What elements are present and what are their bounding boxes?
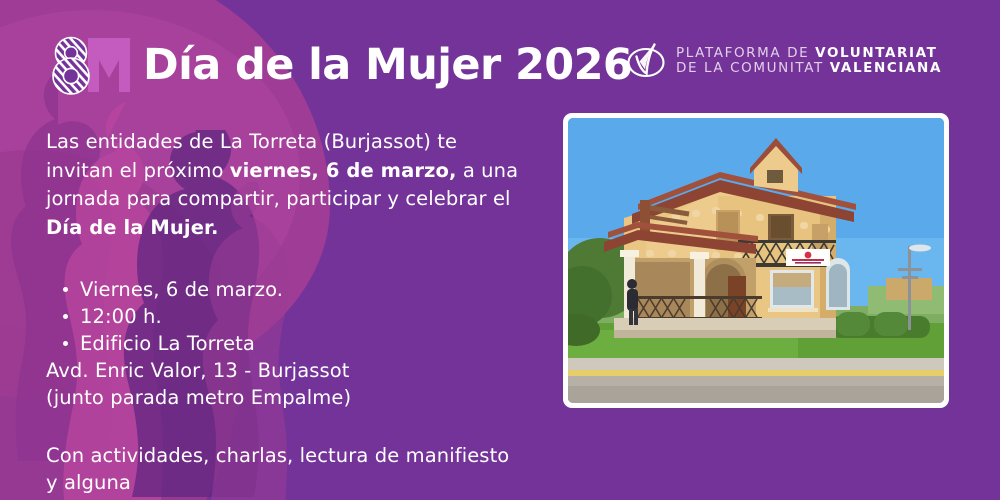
org-logo-line1: PLATAFORMA DE VOLUNTARIAT xyxy=(676,47,942,61)
outro-line-1: Con actividades, charlas, lectura de man… xyxy=(46,442,526,496)
org-logo-line2-light: DE LA COMUNITAT xyxy=(676,60,824,76)
org-logo-line1-light: PLATAFORMA DE xyxy=(676,45,809,61)
address-line-2: (junto parada metro Empalme) xyxy=(46,384,526,411)
list-item: 12:00 h. xyxy=(46,303,526,330)
event-detail-list: Viernes, 6 de marzo. 12:00 h. Edificio L… xyxy=(46,276,526,357)
page-title: Día de la Mujer 2026 xyxy=(143,38,632,92)
poster-header: Día de la Mujer 2026 PLATAFORMA DE VOLUN… xyxy=(0,0,1000,112)
address-line-1: Avd. Enric Valor, 13 - Burjassot xyxy=(46,357,526,384)
org-logo-line1-bold: VOLUNTARIAT xyxy=(815,45,937,61)
org-logo-text: PLATAFORMA DE VOLUNTARIAT DE LA COMUNITA… xyxy=(676,45,942,76)
poster-body: Las entidades de La Torreta (Burjassot) … xyxy=(46,128,526,500)
8m-logo xyxy=(44,34,156,96)
intro-paragraph: Las entidades de La Torreta (Burjassot) … xyxy=(46,128,526,242)
intro-bold-date: viernes, 6 de marzo, xyxy=(230,159,457,182)
org-logo[interactable]: PLATAFORMA DE VOLUNTARIAT DE LA COMUNITA… xyxy=(625,39,942,81)
poster-canvas: Día de la Mujer 2026 PLATAFORMA DE VOLUN… xyxy=(0,0,1000,500)
list-item: Viernes, 6 de marzo. xyxy=(46,276,526,303)
org-logo-line2: DE LA COMUNITAT VALENCIANA xyxy=(676,62,942,76)
checkmark-circle-icon xyxy=(625,39,667,81)
building-photo xyxy=(568,118,944,403)
list-item: Edificio La Torreta xyxy=(46,330,526,357)
photo-frame xyxy=(563,113,949,408)
outro-line-2: que otra sorpresa. xyxy=(46,496,526,500)
org-logo-line2-bold: VALENCIANA xyxy=(830,60,942,76)
intro-bold-event: Día de la Mujer. xyxy=(46,216,218,239)
